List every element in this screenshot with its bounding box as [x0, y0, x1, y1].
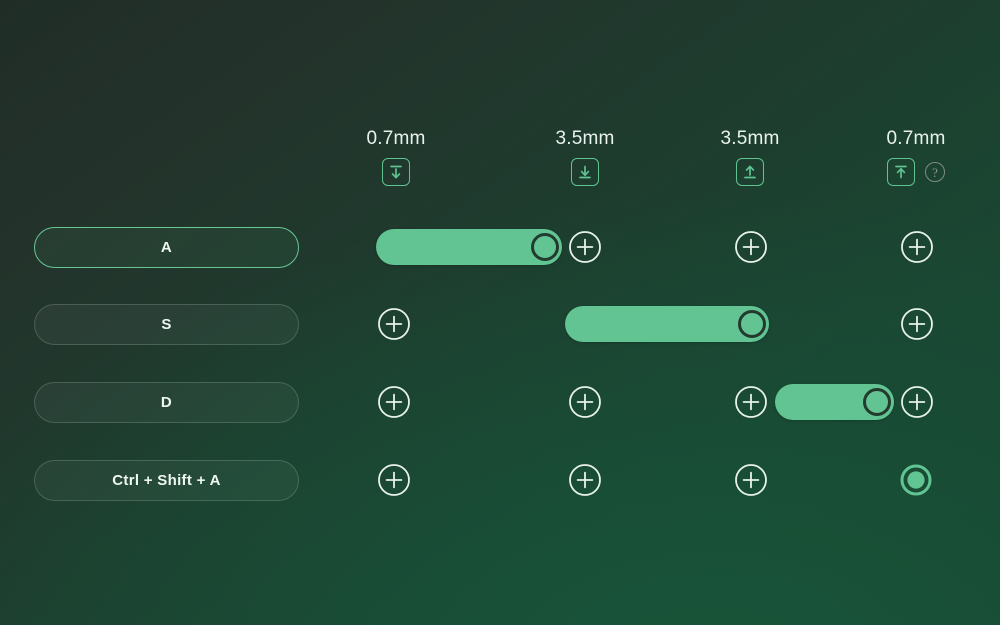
align-up-from-line-icon[interactable]	[736, 158, 764, 186]
key-button-3[interactable]: Ctrl + Shift + A	[34, 460, 299, 501]
align-up-to-line-icon[interactable]	[887, 158, 915, 186]
plus-circle-icon[interactable]	[900, 307, 934, 341]
slider-knob-handle[interactable]	[738, 310, 766, 338]
align-top-icon[interactable]	[382, 158, 410, 186]
key-button-0[interactable]: A	[34, 227, 299, 268]
column-header-3: 0.7mm?	[856, 128, 976, 186]
plus-circle-icon[interactable]	[734, 230, 768, 264]
slider-track-row-2[interactable]	[775, 384, 894, 420]
column-icon-row	[690, 158, 810, 186]
slider-knob-handle[interactable]	[863, 388, 891, 416]
column-header-1: 3.5mm	[525, 128, 645, 186]
plus-circle-icon[interactable]	[900, 385, 934, 419]
column-size-label: 0.7mm	[856, 128, 976, 150]
slider-track-row-0[interactable]	[376, 229, 562, 265]
column-icon-row	[336, 158, 456, 186]
plus-circle-icon[interactable]	[734, 463, 768, 497]
plus-circle-icon[interactable]	[900, 230, 934, 264]
column-size-label: 3.5mm	[690, 128, 810, 150]
column-size-label: 3.5mm	[525, 128, 645, 150]
plus-circle-icon[interactable]	[377, 385, 411, 419]
plus-circle-icon[interactable]	[568, 230, 602, 264]
radio-selected-icon[interactable]	[898, 462, 934, 498]
column-header-0: 0.7mm	[336, 128, 456, 186]
key-button-2[interactable]: D	[34, 382, 299, 423]
plus-circle-icon[interactable]	[377, 307, 411, 341]
column-icon-row	[525, 158, 645, 186]
plus-circle-icon[interactable]	[568, 463, 602, 497]
help-circle-icon[interactable]: ?	[925, 162, 945, 182]
column-icon-row: ?	[856, 158, 976, 186]
column-header-2: 3.5mm	[690, 128, 810, 186]
key-button-1[interactable]: S	[34, 304, 299, 345]
plus-circle-icon[interactable]	[377, 463, 411, 497]
align-bottom-icon[interactable]	[571, 158, 599, 186]
plus-circle-icon[interactable]	[568, 385, 602, 419]
column-size-label: 0.7mm	[336, 128, 456, 150]
slider-knob-handle[interactable]	[531, 233, 559, 261]
slider-track-row-1[interactable]	[565, 306, 769, 342]
app-canvas: 0.7mm3.5mm3.5mm0.7mm? ASDCtrl + Shift + …	[0, 0, 1000, 625]
plus-circle-icon[interactable]	[734, 385, 768, 419]
